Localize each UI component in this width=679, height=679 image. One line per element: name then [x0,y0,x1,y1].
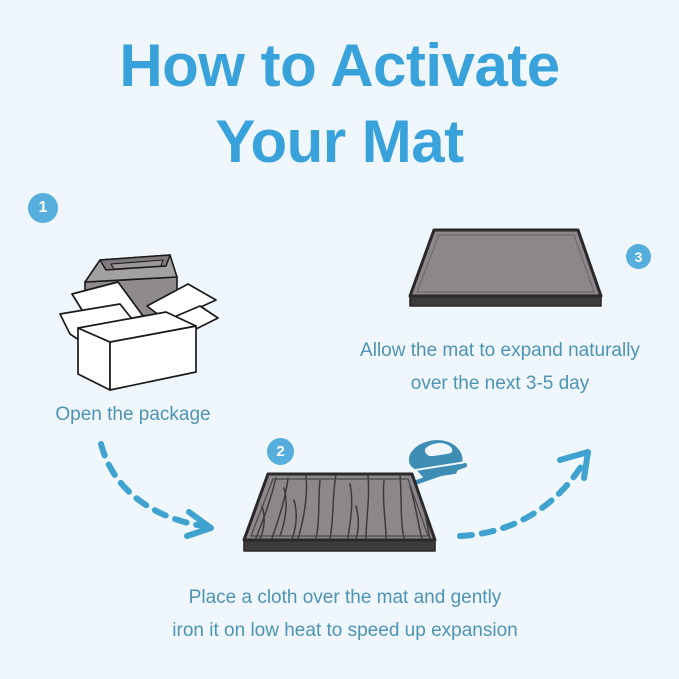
step-3-badge-number: 3 [635,249,643,265]
step-3-caption: Allow the mat to expand naturally over t… [320,334,679,400]
step-1-badge: 1 [28,193,58,223]
step-2-badge: 2 [267,438,294,465]
infographic-canvas: How to Activate Your Mat 1 Open the pack… [0,0,679,679]
step-1-badge-number: 1 [39,199,48,217]
open-box-with-mat-icon [48,222,228,392]
dashed-curved-arrow-up-right-icon [456,440,601,545]
title-line-2: Your Mat [0,104,679,180]
step-1-caption: Open the package [0,398,266,431]
step-2-caption: Place a cloth over the mat and gently ir… [110,581,580,647]
step-2-badge-number: 2 [276,443,284,460]
step-3-badge: 3 [626,244,651,269]
page-title: How to Activate Your Mat [0,28,679,180]
title-line-1: How to Activate [119,32,559,99]
flat-mat-icon [398,222,613,322]
dashed-curved-arrow-down-right-icon [95,438,235,543]
wrinkled-mat-icon [232,466,447,566]
